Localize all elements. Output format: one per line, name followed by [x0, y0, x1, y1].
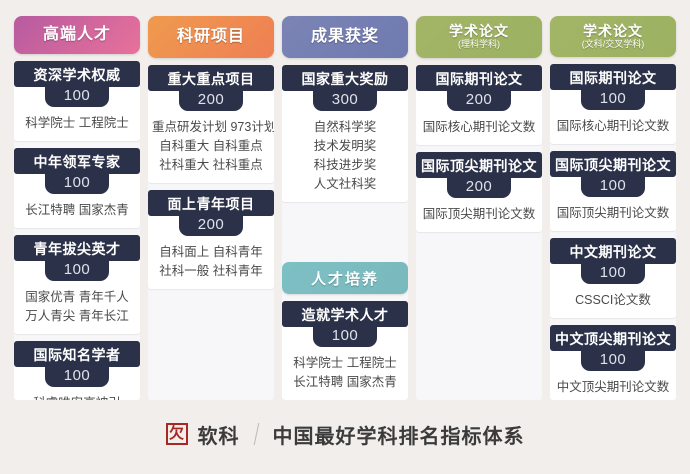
indicator-card[interactable]: 面上青年项目200自科面上 自科青年社科一般 社科青年 — [148, 190, 274, 289]
indicator-item: 人文社科奖 — [286, 175, 404, 194]
indicator-items: 国际顶尖期刊论文数 — [416, 198, 542, 232]
category-sublabel: (理科学科) — [458, 39, 500, 50]
category-label: 成果获奖 — [311, 28, 379, 46]
brand-name: 软科 — [198, 420, 240, 449]
category-pill[interactable]: 学术论文(理科学科) — [416, 16, 542, 58]
indicator-item: 自科重大 自科重点 — [152, 137, 270, 156]
indicator-items: 中文顶尖期刊论文数 — [550, 371, 676, 400]
category-label: 学术论文 — [449, 24, 509, 39]
category-label: 科研项目 — [177, 28, 245, 46]
indicator-title: 重大重点项目 — [148, 65, 274, 91]
indicator-items: 重点研发计划 973计划自科重大 自科重点社科重大 社科重点 — [148, 111, 274, 183]
footer-divider — [253, 423, 259, 445]
indicator-item: 自科面上 自科青年 — [152, 243, 270, 262]
indicator-item: 万人青尖 青年长江 — [18, 307, 136, 326]
indicator-title: 国际顶尖期刊论文 — [550, 151, 676, 177]
footer-title: 中国最好学科排名指标体系 — [273, 420, 525, 449]
indicator-card[interactable]: 中年领军专家100长江特聘 国家杰青 — [14, 148, 140, 228]
panel-spacer — [282, 209, 408, 256]
indicator-card[interactable]: 中文顶尖期刊论文100中文顶尖期刊论文数 — [550, 325, 676, 400]
indicator-score: 200 — [179, 91, 243, 111]
indicator-item: CSSCI论文数 — [554, 291, 672, 310]
indicator-item: 科技进步奖 — [286, 156, 404, 175]
indicator-item: 长江特聘 国家杰青 — [286, 373, 404, 392]
indicator-item: 自然科学奖 — [286, 118, 404, 137]
indicator-card[interactable]: 国际期刊论文100国际核心期刊论文数 — [550, 64, 676, 144]
indicator-title: 国际期刊论文 — [416, 65, 542, 91]
category-column: 学术论文(文科/交叉学科)国际期刊论文100国际核心期刊论文数国际顶尖期刊论文1… — [550, 16, 676, 400]
indicator-item: 社科一般 社科青年 — [152, 262, 270, 281]
indicator-card[interactable]: 国际顶尖期刊论文100国际顶尖期刊论文数 — [550, 151, 676, 231]
indicator-items: 科学院士 工程院士长江特聘 国家杰青 — [282, 347, 408, 400]
column-panel: 国际期刊论文100国际核心期刊论文数国际顶尖期刊论文100国际顶尖期刊论文数中文… — [550, 64, 676, 400]
indicator-item: 国际核心期刊论文数 — [554, 117, 672, 136]
indicator-title: 面上青年项目 — [148, 190, 274, 216]
subcategory-pill[interactable]: 人才培养 — [282, 262, 408, 294]
indicator-title: 造就学术人才 — [282, 301, 408, 327]
indicator-items: 自科面上 自科青年社科一般 社科青年 — [148, 236, 274, 289]
indicator-card[interactable]: 重大重点项目200重点研发计划 973计划自科重大 自科重点社科重大 社科重点 — [148, 65, 274, 183]
indicator-item: 国际顶尖期刊论文数 — [554, 204, 672, 223]
category-sublabel: (文科/交叉学科) — [582, 39, 645, 50]
column-panel: 国家重大奖励300自然科学奖技术发明奖科技进步奖人文社科奖人才培养造就学术人才1… — [282, 65, 408, 400]
column-panel: 重大重点项目200重点研发计划 973计划自科重大 自科重点社科重大 社科重点面… — [148, 65, 274, 400]
indicator-items: 自然科学奖技术发明奖科技进步奖人文社科奖 — [282, 111, 408, 202]
indicator-score: 100 — [581, 90, 645, 110]
indicator-item: 社科重大 社科重点 — [152, 156, 270, 175]
indicator-item: 中文顶尖期刊论文数 — [554, 378, 672, 397]
indicator-items: 国际核心期刊论文数 — [416, 111, 542, 145]
indicator-items: 科学院士 工程院士 — [14, 107, 140, 141]
category-pill[interactable]: 高端人才 — [14, 16, 140, 54]
category-column: 高端人才资深学术权威100科学院士 工程院士中年领军专家100长江特聘 国家杰青… — [14, 16, 140, 400]
indicator-score: 200 — [179, 216, 243, 236]
category-column: 学术论文(理科学科)国际期刊论文200国际核心期刊论文数国际顶尖期刊论文200国… — [416, 16, 542, 400]
indicator-card[interactable]: 造就学术人才100科学院士 工程院士长江特聘 国家杰青 — [282, 301, 408, 400]
indicator-score: 100 — [313, 327, 377, 347]
footer: 欠 软科 中国最好学科排名指标体系 — [0, 400, 690, 474]
indicator-score: 100 — [45, 367, 109, 387]
indicator-score: 200 — [447, 178, 511, 198]
indicator-item: 科学院士 工程院士 — [18, 114, 136, 133]
indicator-title: 中年领军专家 — [14, 148, 140, 174]
category-column: 成果获奖国家重大奖励300自然科学奖技术发明奖科技进步奖人文社科奖人才培养造就学… — [282, 16, 408, 400]
indicator-items: 国际顶尖期刊论文数 — [550, 197, 676, 231]
indicator-item: 科睿唯安高被引 — [18, 394, 136, 400]
indicator-item: 技术发明奖 — [286, 137, 404, 156]
indicator-items: 长江特聘 国家杰青 — [14, 194, 140, 228]
indicator-items: 科睿唯安高被引爱思唯尔高被引 — [14, 387, 140, 400]
indicator-score: 200 — [447, 91, 511, 111]
indicator-item: 国际顶尖期刊论文数 — [420, 205, 538, 224]
indicator-card[interactable]: 国家重大奖励300自然科学奖技术发明奖科技进步奖人文社科奖 — [282, 65, 408, 202]
indicator-card[interactable]: 国际期刊论文200国际核心期刊论文数 — [416, 65, 542, 145]
column-panel: 资深学术权威100科学院士 工程院士中年领军专家100长江特聘 国家杰青青年拔尖… — [14, 61, 140, 400]
indicator-title: 国家重大奖励 — [282, 65, 408, 91]
indicator-title: 国际顶尖期刊论文 — [416, 152, 542, 178]
indicator-score: 100 — [45, 174, 109, 194]
indicator-item: 国家优青 青年千人 — [18, 288, 136, 307]
indicator-card[interactable]: 资深学术权威100科学院士 工程院士 — [14, 61, 140, 141]
indicator-item: 国际核心期刊论文数 — [420, 118, 538, 137]
indicator-title: 青年拔尖英才 — [14, 235, 140, 261]
category-label: 高端人才 — [43, 26, 111, 44]
indicator-score: 100 — [581, 177, 645, 197]
indicator-item: 科学院士 工程院士 — [286, 354, 404, 373]
indicator-items: CSSCI论文数 — [550, 284, 676, 318]
indicator-card[interactable]: 国际知名学者100科睿唯安高被引爱思唯尔高被引 — [14, 341, 140, 400]
indicator-card[interactable]: 青年拔尖英才100国家优青 青年千人万人青尖 青年长江 — [14, 235, 140, 334]
indicator-title: 国际知名学者 — [14, 341, 140, 367]
indicator-score: 100 — [581, 351, 645, 371]
category-pill[interactable]: 科研项目 — [148, 16, 274, 58]
category-column: 科研项目重大重点项目200重点研发计划 973计划自科重大 自科重点社科重大 社… — [148, 16, 274, 400]
indicator-title: 中文期刊论文 — [550, 238, 676, 264]
indicator-item: 长江特聘 国家杰青 — [18, 201, 136, 220]
indicator-score: 100 — [45, 87, 109, 107]
indicator-card[interactable]: 国际顶尖期刊论文200国际顶尖期刊论文数 — [416, 152, 542, 232]
indicator-score: 100 — [45, 261, 109, 281]
indicator-item: 重点研发计划 973计划 — [152, 118, 270, 137]
indicator-title: 国际期刊论文 — [550, 64, 676, 90]
logo-glyph: 欠 — [169, 427, 184, 442]
indicator-score: 300 — [313, 91, 377, 111]
category-columns: 高端人才资深学术权威100科学院士 工程院士中年领军专家100长江特聘 国家杰青… — [0, 0, 690, 400]
indicator-score: 100 — [581, 264, 645, 284]
indicator-board: 高端人才资深学术权威100科学院士 工程院士中年领军专家100长江特聘 国家杰青… — [0, 0, 690, 474]
column-panel: 国际期刊论文200国际核心期刊论文数国际顶尖期刊论文200国际顶尖期刊论文数 — [416, 65, 542, 400]
category-pill[interactable]: 学术论文(文科/交叉学科) — [550, 16, 676, 57]
indicator-items: 国际核心期刊论文数 — [550, 110, 676, 144]
category-pill[interactable]: 成果获奖 — [282, 16, 408, 58]
indicator-title: 中文顶尖期刊论文 — [550, 325, 676, 351]
category-label: 学术论文 — [583, 24, 643, 39]
indicator-items: 国家优青 青年千人万人青尖 青年长江 — [14, 281, 140, 334]
indicator-title: 资深学术权威 — [14, 61, 140, 87]
indicator-card[interactable]: 中文期刊论文100CSSCI论文数 — [550, 238, 676, 318]
ruanke-logo-icon: 欠 — [166, 423, 188, 445]
